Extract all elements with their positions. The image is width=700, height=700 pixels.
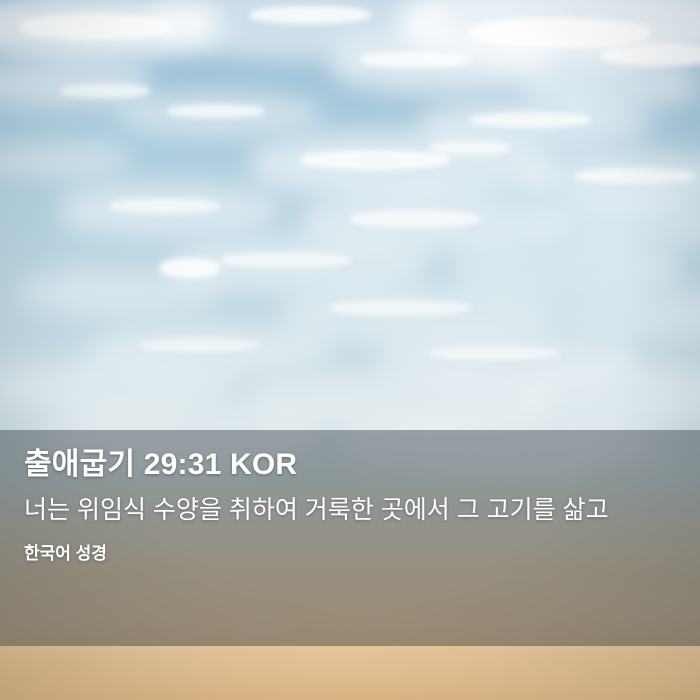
scripture-image-card: 출애굽기 29:31 KOR 너는 위임식 수양을 취하여 거룩한 곳에서 그 … (0, 0, 700, 700)
verse-source: 한국어 성경 (24, 544, 676, 564)
verse-reference: 출애굽기 29:31 KOR (24, 448, 676, 483)
caption-overlay: 출애굽기 29:31 KOR 너는 위임식 수양을 취하여 거룩한 곳에서 그 … (0, 430, 700, 646)
verse-text: 너는 위임식 수양을 취하여 거룩한 곳에서 그 고기를 삶고 (24, 493, 664, 529)
